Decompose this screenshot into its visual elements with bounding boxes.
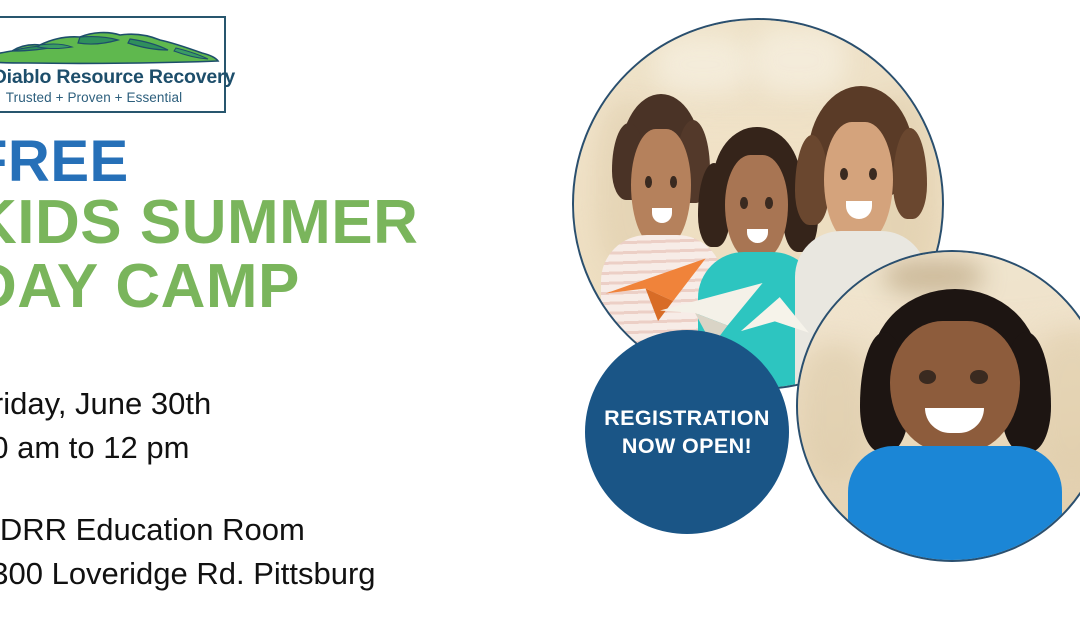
promo-flyer: Mt. Diablo Resource Recovery Trusted + P… bbox=[0, 0, 1080, 630]
event-address: 4300 Loveridge Rd. Pittsburg bbox=[0, 552, 534, 596]
headline-kids-summer: KIDS SUMMER bbox=[0, 191, 532, 255]
event-date: Friday, June 30th bbox=[0, 382, 534, 426]
registration-badge[interactable]: REGISTRATION NOW OPEN! bbox=[585, 330, 789, 534]
logo-tagline: Trusted + Proven + Essential bbox=[0, 90, 228, 105]
event-time: 10 am to 12 pm bbox=[0, 426, 534, 470]
badge-line-now-open: NOW OPEN! bbox=[622, 432, 752, 460]
badge-line-registration: REGISTRATION bbox=[604, 404, 770, 432]
logo-organization-name: Mt. Diablo Resource Recovery bbox=[0, 66, 228, 89]
photo-smiling-child-blue-shirt bbox=[796, 250, 1080, 562]
mountain-range-icon bbox=[0, 26, 220, 66]
event-venue: MDRR Education Room bbox=[0, 508, 534, 552]
headline-day-camp: DAY CAMP bbox=[0, 255, 532, 319]
event-details-block: Friday, June 30th 10 am to 12 pm MDRR Ed… bbox=[0, 382, 534, 596]
headline-block: FREE KIDS SUMMER DAY CAMP bbox=[0, 134, 532, 319]
details-spacer bbox=[0, 470, 534, 508]
organization-logo: Mt. Diablo Resource Recovery Trusted + P… bbox=[0, 16, 226, 113]
headline-free: FREE bbox=[0, 134, 532, 191]
